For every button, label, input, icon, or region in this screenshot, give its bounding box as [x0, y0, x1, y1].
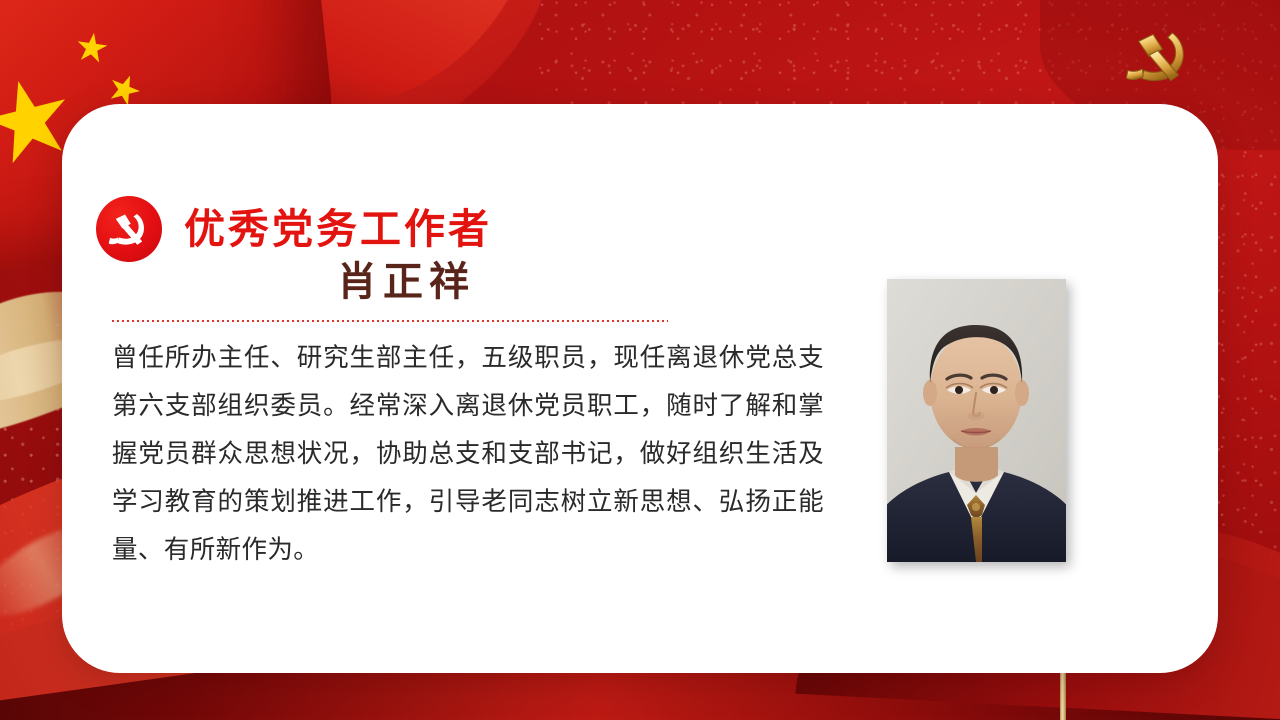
biography-paragraph: 曾任所办主任、研究生部主任，五级职员，现任离退休党总支第六支部组织委员。经常深入… [112, 334, 824, 574]
content-card: 优秀党务工作者 肖正祥 曾任所办主任、研究生部主任，五级职员，现任离退休党总支第… [62, 104, 1218, 673]
portrait-photo [887, 279, 1066, 562]
slide-root: 优秀党务工作者 肖正祥 曾任所办主任、研究生部主任，五级职员，现任离退休党总支第… [0, 0, 1280, 720]
hammer-sickle-icon [96, 196, 162, 262]
dotted-divider [112, 320, 668, 322]
page-title: 优秀党务工作者 [184, 209, 492, 250]
title-row: 优秀党务工作者 [96, 196, 492, 262]
person-name: 肖正祥 [96, 262, 716, 302]
hammer-sickle-gold-icon [1118, 26, 1196, 92]
